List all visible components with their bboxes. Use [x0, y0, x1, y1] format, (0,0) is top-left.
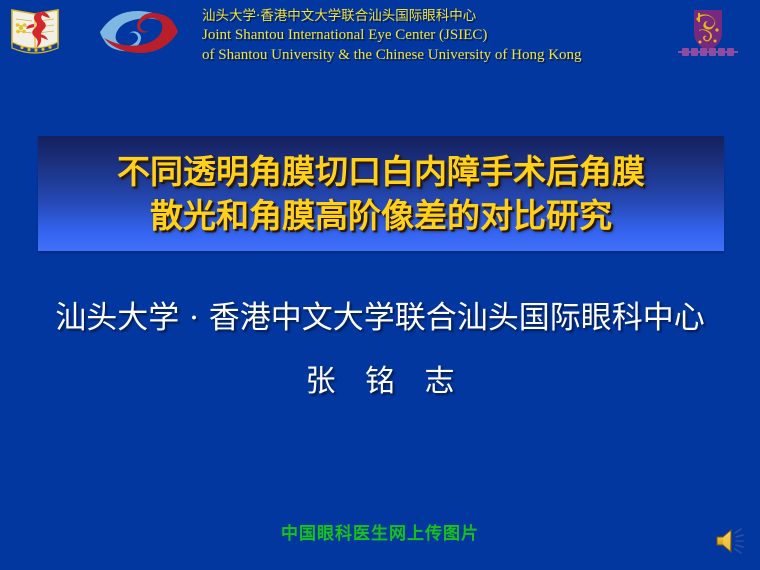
header-line-english-2: of Shantou University & the Chinese Univ… — [202, 45, 672, 65]
title-line-1: 不同透明角膜切口白内障手术后角膜 — [117, 150, 645, 194]
header-line-chinese: 汕头大学·香港中文大学联合汕头国际眼科中心 — [202, 7, 672, 25]
cuhk-crest-icon — [676, 6, 740, 62]
shantou-university-crest-icon — [8, 4, 62, 58]
speaker-icon[interactable] — [714, 524, 752, 558]
presentation-slide: 汕头大学·香港中文大学联合汕头国际眼科中心 Joint Shantou Inte… — [0, 0, 760, 570]
presenter-name: 张 铭 志 — [0, 362, 760, 402]
jsiec-eye-logo-icon — [96, 8, 182, 56]
header-institution-text: 汕头大学·香港中文大学联合汕头国际眼科中心 Joint Shantou Inte… — [202, 7, 672, 65]
slide-header: 汕头大学·香港中文大学联合汕头国际眼科中心 Joint Shantou Inte… — [0, 0, 760, 82]
header-line-english-1: Joint Shantou International Eye Center (… — [202, 25, 672, 45]
footer-watermark: 中国眼科医生网上传图片 — [0, 519, 760, 544]
slide-title-box: 不同透明角膜切口白内障手术后角膜 散光和角膜高阶像差的对比研究 — [38, 136, 724, 251]
title-line-2: 散光和角膜高阶像差的对比研究 — [150, 194, 612, 238]
presenter-affiliation: 汕头大学 · 香港中文大学联合汕头国际眼科中心 — [0, 297, 760, 339]
